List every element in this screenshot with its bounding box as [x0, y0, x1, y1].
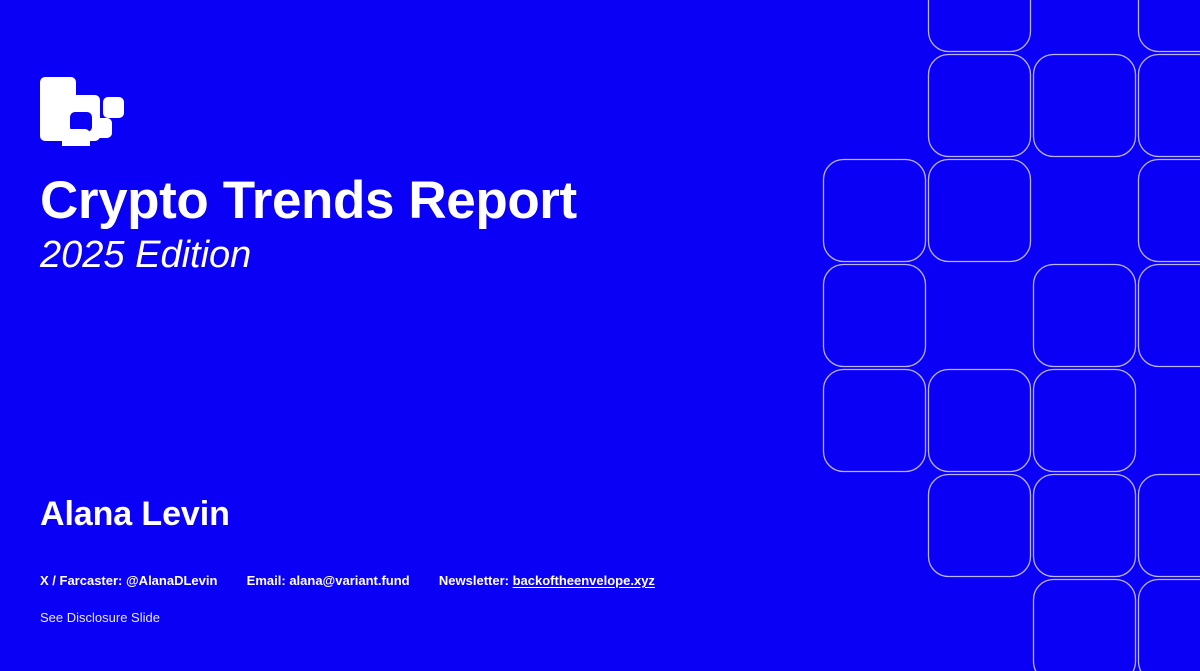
email-value: alana@variant.fund: [289, 573, 409, 588]
social-label: X / Farcaster:: [40, 573, 122, 588]
decorative-rounded-square: [1139, 55, 1200, 157]
decorative-rounded-square: [1139, 265, 1200, 367]
decorative-rounded-square: [1034, 55, 1136, 157]
slide-root: Crypto Trends Report 2025 Edition Alana …: [0, 0, 1200, 671]
page-subtitle: 2025 Edition: [40, 235, 800, 277]
author-block: Alana Levin X / Farcaster: @AlanaDLevin …: [40, 495, 940, 625]
decorative-rounded-square: [1139, 580, 1200, 671]
author-name: Alana Levin: [40, 495, 940, 533]
decorative-rounded-square: [929, 370, 1031, 472]
decorative-rounded-square: [1139, 160, 1200, 262]
contact-line: X / Farcaster: @AlanaDLevin Email: alana…: [40, 573, 940, 588]
decorative-rounded-square: [929, 475, 1031, 577]
decorative-rounded-square: [1034, 475, 1136, 577]
decorative-rounded-square: [824, 370, 926, 472]
email-address: Email: alana@variant.fund: [247, 573, 410, 588]
social-value: @AlanaDLevin: [126, 573, 217, 588]
page-title: Crypto Trends Report: [40, 172, 800, 229]
decorative-rounded-square: [1139, 475, 1200, 577]
decorative-rounded-square: [929, 0, 1031, 52]
decorative-rounded-square: [1034, 580, 1136, 671]
newsletter-link[interactable]: backoftheenvelope.xyz: [513, 573, 655, 588]
newsletter-entry: Newsletter: backoftheenvelope.xyz: [439, 573, 655, 588]
decorative-rounded-square: [824, 265, 926, 367]
decorative-rounded-square: [929, 160, 1031, 262]
newsletter-label: Newsletter:: [439, 573, 509, 588]
decorative-rounded-square: [824, 160, 926, 262]
headline-block: Crypto Trends Report 2025 Edition: [40, 172, 800, 277]
decorative-rounded-square: [1034, 370, 1136, 472]
decorative-rounded-square: [929, 55, 1031, 157]
decorative-rounded-square: [1139, 0, 1200, 52]
social-handle: X / Farcaster: @AlanaDLevin: [40, 573, 217, 588]
email-label: Email:: [247, 573, 286, 588]
disclosure-note: See Disclosure Slide: [40, 610, 940, 625]
decorative-rounded-square: [1034, 265, 1136, 367]
variant-b-logo-icon: [40, 72, 126, 146]
